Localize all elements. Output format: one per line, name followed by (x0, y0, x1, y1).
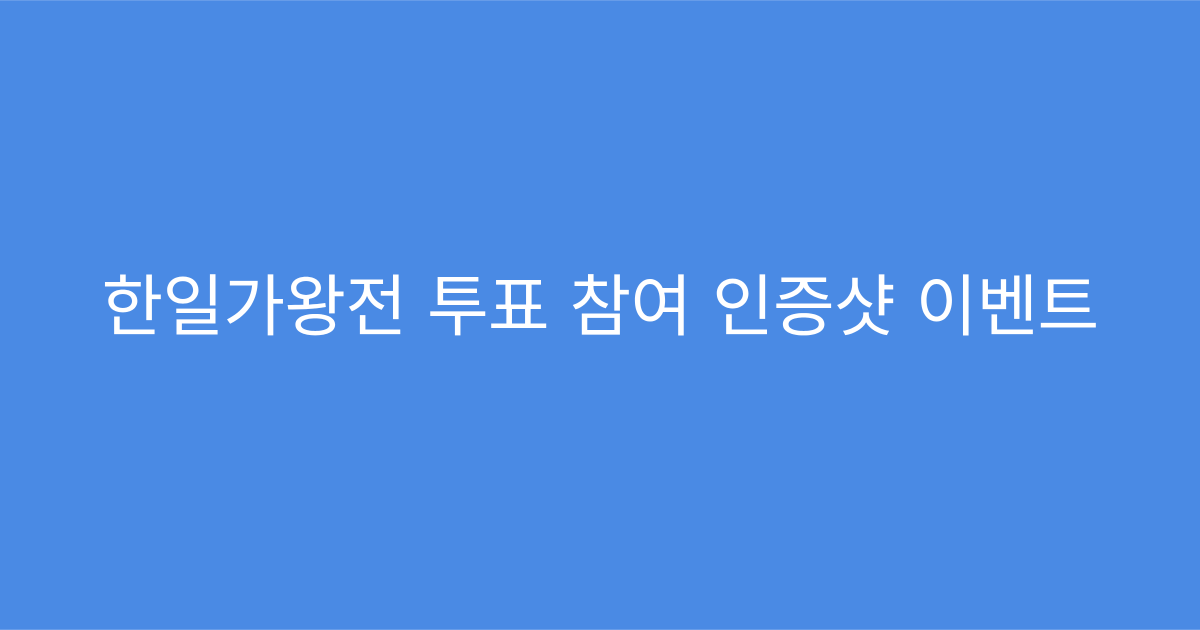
banner-content-area: 한일가왕전 투표 참여 인증샷 이벤트 (0, 267, 1200, 363)
og-banner-card: 한일가왕전 투표 참여 인증샷 이벤트 (0, 0, 1200, 630)
top-edge-seam (0, 0, 1200, 1)
banner-title: 한일가왕전 투표 참여 인증샷 이벤트 (0, 267, 1200, 349)
